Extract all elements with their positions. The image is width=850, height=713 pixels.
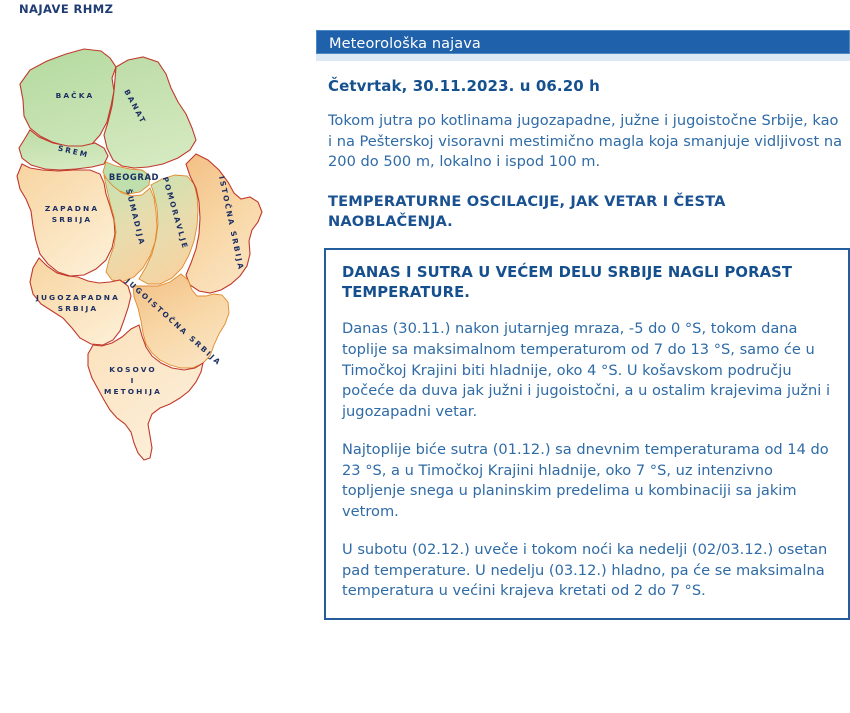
map-label-kosovo-3: METOHIJA xyxy=(104,387,162,396)
bulletin-date: Četvrtak, 30.11.2023. u 06.20 h xyxy=(316,77,850,95)
map-label-kosovo: KOSOVO xyxy=(109,365,157,374)
map-label-jugozapadna-srbija: JUGOZAPADNA xyxy=(35,293,120,302)
temperature-callout-box: DANAS I SUTRA U VEĆEM DELU SRBIJE NAGLI … xyxy=(324,248,850,620)
map-region-banat xyxy=(104,57,196,168)
callout-paragraph-2: Najtoplije biće sutra (01.12.) sa dnevni… xyxy=(342,440,832,523)
map-label-zapadna-srbija: ZAPADNA xyxy=(45,204,99,213)
map-label-backa: BAČKA xyxy=(56,91,95,100)
callout-paragraph-3: U subotu (02.12.) uveče i tokom noći ka … xyxy=(342,540,832,602)
bulletin-header-bar: Meteorološka najava xyxy=(316,30,850,54)
map-label-beograd: BEOGRAD xyxy=(109,172,159,182)
bulletin-emphasis-paragraph: TEMPERATURNE OSCILACIJE, JAK VETAR I ČES… xyxy=(316,192,850,231)
page-title: NAJAVE RHMZ xyxy=(19,2,113,16)
map-label-kosovo-2: I xyxy=(131,376,136,385)
map-label-zapadna-srbija-2: SRBIJA xyxy=(52,215,92,224)
bulletin-intro-paragraph: Tokom jutra po kotlinama jugozapadne, ju… xyxy=(316,111,850,173)
header-underline-strip xyxy=(316,54,850,61)
serbia-region-map: BAČKA BANAT SREM BEOGRAD ZAPADNA SRBIJA … xyxy=(0,36,310,476)
callout-paragraph-1: Danas (30.11.) nakon jutarnjeg mraza, -5… xyxy=(342,319,832,423)
map-label-jugozapadna-srbija-2: SRBIJA xyxy=(58,304,98,313)
bulletin-panel: Meteorološka najava Četvrtak, 30.11.2023… xyxy=(316,30,850,620)
callout-heading: DANAS I SUTRA U VEĆEM DELU SRBIJE NAGLI … xyxy=(342,263,832,302)
bulletin-header-title: Meteorološka najava xyxy=(329,36,481,52)
map-svg: BAČKA BANAT SREM BEOGRAD ZAPADNA SRBIJA … xyxy=(0,36,310,476)
